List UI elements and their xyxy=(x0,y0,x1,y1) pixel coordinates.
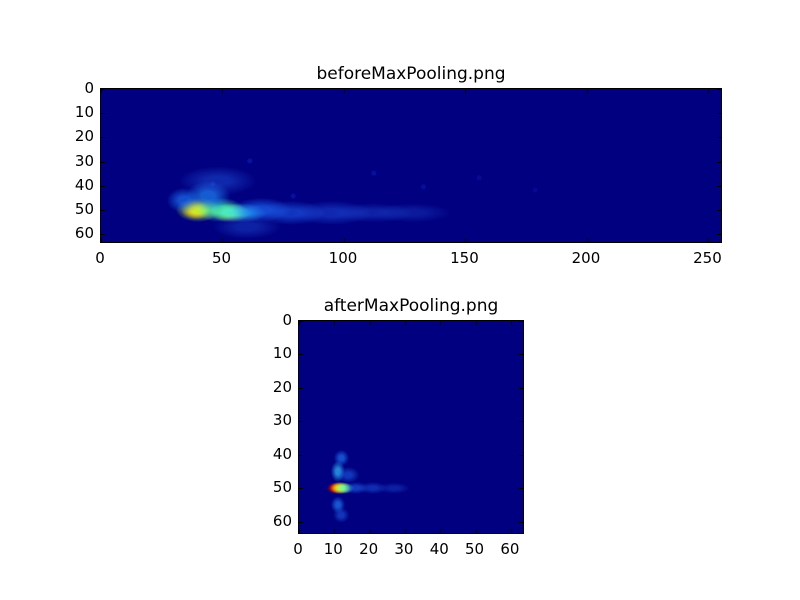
x-tick-label: 0 xyxy=(293,540,303,558)
y-tick-label: 20 xyxy=(252,378,292,396)
x-tick-label: 50 xyxy=(212,249,231,267)
x-tick xyxy=(476,529,477,533)
y-tick xyxy=(519,321,523,322)
x-tick xyxy=(440,529,441,533)
y-tick xyxy=(717,137,721,138)
x-tick xyxy=(708,89,709,93)
matplotlib-figure: beforeMaxPooling.png 0501001502002500102… xyxy=(0,0,800,600)
x-tick-label: 60 xyxy=(500,540,519,558)
y-tick xyxy=(717,113,721,114)
x-tick-label: 40 xyxy=(430,540,449,558)
x-tick xyxy=(101,238,102,242)
x-tick xyxy=(344,238,345,242)
heatmap-image-before xyxy=(101,89,721,242)
x-tick xyxy=(587,238,588,242)
heatmap-hotspot xyxy=(329,482,346,494)
x-tick xyxy=(405,321,406,325)
heatmap-hotspot xyxy=(378,483,410,494)
y-tick-label: 30 xyxy=(54,152,94,170)
y-tick xyxy=(717,234,721,235)
y-tick xyxy=(299,421,303,422)
y-tick xyxy=(717,162,721,163)
x-tick xyxy=(476,321,477,325)
x-tick xyxy=(370,321,371,325)
y-tick xyxy=(717,210,721,211)
x-tick xyxy=(440,321,441,325)
y-tick-label: 20 xyxy=(54,127,94,145)
chart-title-before: beforeMaxPooling.png xyxy=(100,64,722,84)
heatmap-hotspot xyxy=(359,482,387,494)
x-tick xyxy=(465,89,466,93)
x-tick-label: 30 xyxy=(394,540,413,558)
x-tick xyxy=(222,89,223,93)
x-tick-label: 20 xyxy=(359,540,378,558)
x-tick-label: 200 xyxy=(572,249,601,267)
y-tick-label: 60 xyxy=(54,224,94,242)
y-tick xyxy=(519,455,523,456)
x-tick-label: 50 xyxy=(465,540,484,558)
heatmap-hotspot xyxy=(338,467,359,483)
y-tick xyxy=(299,455,303,456)
x-tick xyxy=(511,529,512,533)
chart-title-after: afterMaxPooling.png xyxy=(298,296,524,316)
noise-texture-before xyxy=(101,89,721,242)
heatmap-image-after xyxy=(299,321,523,533)
y-tick xyxy=(519,354,523,355)
y-tick xyxy=(519,421,523,422)
heatmap-hotspot xyxy=(327,483,341,494)
heatmap-hotspot xyxy=(331,461,345,481)
x-tick-label: 10 xyxy=(324,540,343,558)
y-tick xyxy=(299,522,303,523)
x-tick xyxy=(299,529,300,533)
y-tick xyxy=(299,488,303,489)
x-tick xyxy=(334,321,335,325)
x-tick xyxy=(334,529,335,533)
heatmap-hotspot xyxy=(344,482,368,494)
y-tick xyxy=(519,488,523,489)
heatmap-after-max-pooling xyxy=(298,320,524,534)
y-tick-label: 40 xyxy=(252,445,292,463)
y-tick xyxy=(519,522,523,523)
heatmap-hotspot xyxy=(331,496,345,513)
heatmap-hotspot xyxy=(334,508,350,523)
x-tick-label: 150 xyxy=(450,249,479,267)
y-tick xyxy=(101,234,105,235)
y-tick xyxy=(299,321,303,322)
y-tick-label: 30 xyxy=(252,411,292,429)
y-tick xyxy=(101,137,105,138)
x-tick xyxy=(587,89,588,93)
x-tick xyxy=(222,238,223,242)
y-tick xyxy=(717,89,721,90)
x-tick xyxy=(465,238,466,242)
x-tick xyxy=(511,321,512,325)
y-tick-label: 40 xyxy=(54,176,94,194)
y-tick-label: 60 xyxy=(252,512,292,530)
y-tick xyxy=(519,388,523,389)
y-tick-label: 50 xyxy=(252,478,292,496)
x-tick-label: 250 xyxy=(693,249,722,267)
y-tick xyxy=(299,354,303,355)
y-tick-label: 10 xyxy=(54,103,94,121)
y-tick xyxy=(717,186,721,187)
y-tick-label: 10 xyxy=(252,344,292,362)
y-tick xyxy=(101,113,105,114)
heatmap-before-max-pooling xyxy=(100,88,722,243)
y-tick-label: 0 xyxy=(54,79,94,97)
y-tick xyxy=(101,210,105,211)
x-tick-label: 0 xyxy=(95,249,105,267)
y-tick-label: 0 xyxy=(252,311,292,329)
x-tick xyxy=(708,238,709,242)
y-tick-label: 50 xyxy=(54,200,94,218)
y-tick xyxy=(101,89,105,90)
x-tick xyxy=(405,529,406,533)
heatmap-hotspot xyxy=(336,483,354,494)
x-tick xyxy=(344,89,345,93)
heatmap-hotspot xyxy=(334,450,348,466)
heatmap-hotspot xyxy=(332,482,350,494)
y-tick xyxy=(101,162,105,163)
x-tick-label: 100 xyxy=(329,249,358,267)
x-tick xyxy=(370,529,371,533)
y-tick xyxy=(101,186,105,187)
y-tick xyxy=(299,388,303,389)
